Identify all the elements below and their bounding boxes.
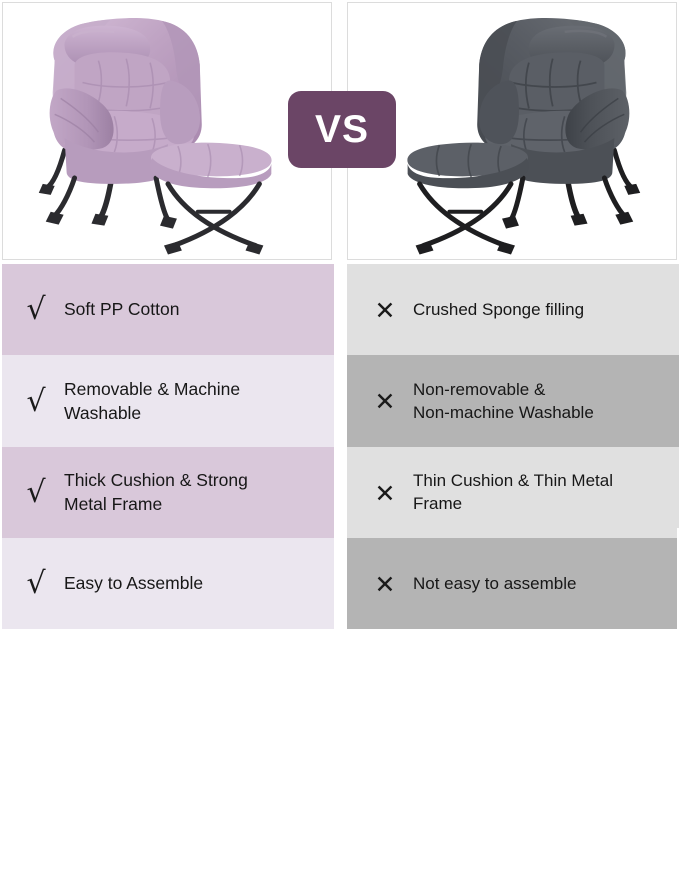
versus-label: VS	[315, 110, 369, 149]
feature-label: Removable & Machine Washable	[64, 378, 334, 425]
comparison-column-ours: √ Soft PP Cotton √ Removable & Machine W…	[2, 264, 334, 629]
product-image-gray-chair	[347, 2, 677, 260]
table-row: ✕ Non-removable & Non-machine Washable	[347, 355, 679, 447]
purple-chair-illustration	[3, 3, 331, 259]
table-row: √ Thick Cushion & Strong Metal Frame	[2, 447, 334, 538]
feature-label: Non-removable & Non-machine Washable	[413, 379, 679, 425]
left-edge-margin	[0, 528, 2, 893]
feature-label: Crushed Sponge filling	[413, 299, 679, 322]
check-mark-icon: √	[2, 569, 64, 599]
gray-chair-illustration	[348, 3, 676, 259]
table-row: √ Soft PP Cotton	[2, 264, 334, 355]
cross-mark-icon: ✕	[347, 389, 413, 414]
cross-mark-icon: ✕	[347, 481, 413, 506]
table-row: √ Removable & Machine Washable	[2, 355, 334, 447]
hero-section: VS	[0, 0, 679, 264]
column-gutter	[334, 528, 347, 893]
table-row: ✕ Crushed Sponge filling	[347, 264, 679, 355]
check-mark-icon: √	[2, 387, 64, 417]
product-image-purple-chair	[2, 2, 332, 260]
feature-label: Not easy to assemble	[413, 573, 679, 596]
feature-label: Thick Cushion & Strong Metal Frame	[64, 469, 334, 516]
feature-label: Thin Cushion & Thin Metal Frame	[413, 470, 679, 516]
feature-label: Soft PP Cotton	[64, 298, 334, 322]
comparison-column-others: ✕ Crushed Sponge filling ✕ Non-removable…	[347, 264, 679, 629]
check-mark-icon: √	[2, 478, 64, 508]
table-row: √ Easy to Assemble	[2, 538, 334, 629]
cross-mark-icon: ✕	[347, 572, 413, 597]
comparison-table: √ Soft PP Cotton √ Removable & Machine W…	[0, 264, 679, 629]
table-row: ✕ Thin Cushion & Thin Metal Frame	[347, 447, 679, 538]
check-mark-icon: √	[2, 295, 64, 325]
cross-mark-icon: ✕	[347, 298, 413, 323]
comparison-infographic: VS √ Soft PP Cotton √ Removable & Machin…	[0, 0, 679, 629]
table-row: ✕ Not easy to assemble	[347, 538, 679, 629]
feature-label: Easy to Assemble	[64, 572, 334, 596]
versus-badge: VS	[288, 91, 396, 168]
